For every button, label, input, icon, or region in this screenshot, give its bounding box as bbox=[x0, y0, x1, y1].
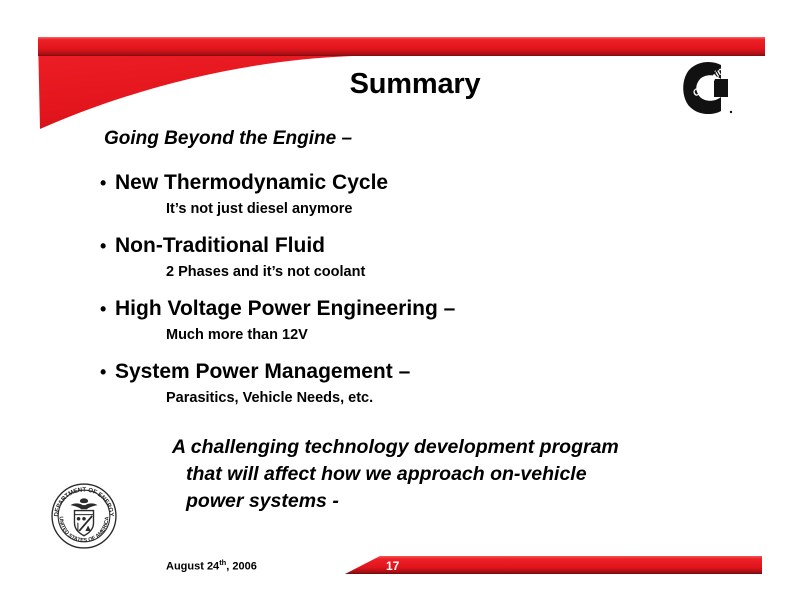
bullet-marker-icon: • bbox=[100, 174, 115, 192]
closing-line-1: A challenging technology development pro… bbox=[172, 434, 752, 461]
bullet-list: •System Power Management – Parasitics, V… bbox=[100, 361, 740, 406]
bullet-label: Non-Traditional Fluid bbox=[115, 235, 325, 256]
bullet-item: •Non-Traditional Fluid bbox=[100, 235, 740, 256]
bullet-subtext: It’s not just diesel anymore bbox=[166, 202, 740, 217]
page-number: 17 bbox=[386, 559, 399, 573]
footer-date: August 24th, 2006 bbox=[166, 558, 257, 573]
bullet-list: •High Voltage Power Engineering – Much m… bbox=[100, 298, 740, 343]
bullet-list: •Non-Traditional Fluid 2 Phases and it’s… bbox=[100, 235, 740, 280]
bullet-marker-icon: • bbox=[100, 363, 115, 381]
bullet-item: •New Thermodynamic Cycle bbox=[100, 172, 740, 193]
lead-line: Going Beyond the Engine – bbox=[104, 128, 352, 150]
closing-line-3: power systems - bbox=[186, 488, 752, 515]
slide-title: Summary bbox=[180, 68, 650, 101]
footer-date-tail: , 2006 bbox=[226, 561, 257, 573]
bullet-label: System Power Management – bbox=[115, 361, 410, 382]
bullet-label: High Voltage Power Engineering – bbox=[115, 298, 455, 319]
bullet-marker-icon: • bbox=[100, 300, 115, 318]
cummins-logo: Cummins bbox=[676, 57, 738, 119]
closing-line-2: that will affect how we approach on-vehi… bbox=[186, 461, 752, 488]
bullet-subtext: Parasitics, Vehicle Needs, etc. bbox=[166, 391, 740, 406]
bullet-subtext: 2 Phases and it’s not coolant bbox=[166, 265, 740, 280]
bullet-list: •New Thermodynamic Cycle It’s not just d… bbox=[100, 172, 740, 217]
bullet-label: New Thermodynamic Cycle bbox=[115, 172, 388, 193]
bullet-item: •System Power Management – bbox=[100, 361, 740, 382]
bullet-marker-icon: • bbox=[100, 237, 115, 255]
bullet-subtext: Much more than 12V bbox=[166, 328, 740, 343]
department-of-energy-seal: DEPARTMENT OF ENERGY UNITED STATES OF AM… bbox=[50, 482, 118, 550]
closing-statement: A challenging technology development pro… bbox=[172, 434, 752, 515]
bullet-item: •High Voltage Power Engineering – bbox=[100, 298, 740, 319]
footer-date-main: August 24 bbox=[166, 561, 219, 573]
